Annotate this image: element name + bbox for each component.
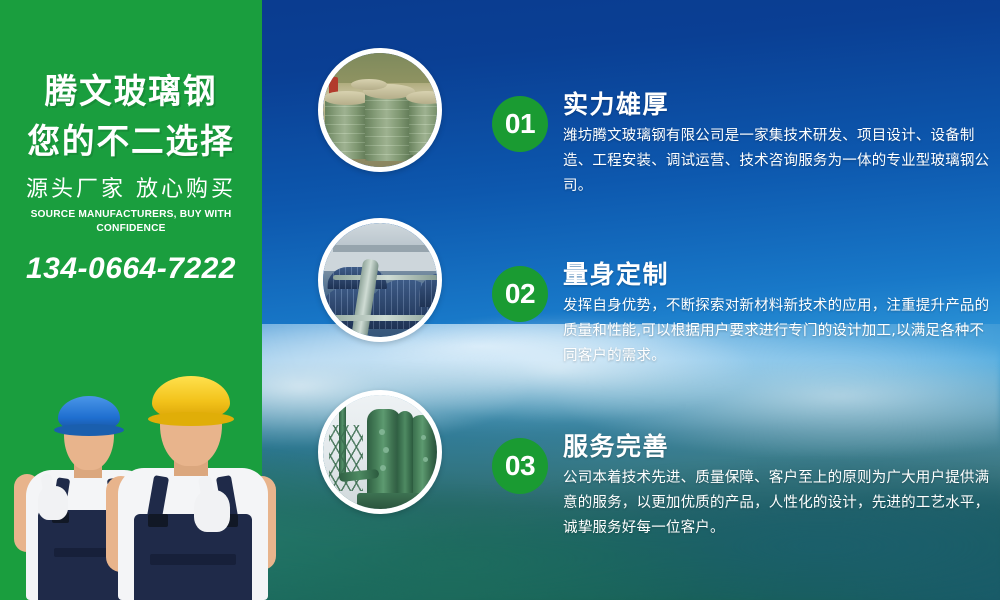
feature-text-3: 服务完善 公司本着技术先进、质量保障、客户至上的原则为广大用户提供满意的服务，以… — [563, 432, 993, 541]
brand-slogan-en: SOURCE MANUFACTURERS, BUY WITH CONFIDENC… — [4, 207, 258, 235]
feature-title-3: 服务完善 — [563, 432, 993, 462]
feature-row-2: 02 量身定制 发挥自身优势，不断探索对新材料新技术的应用，注重提升产品的质量和… — [300, 218, 990, 378]
feature-text-2: 量身定制 发挥自身优势，不断探索对新材料新技术的应用，注重提升产品的质量和性能,… — [563, 260, 993, 369]
brand-slogan-cn: 源头厂家 放心购买 — [0, 176, 262, 204]
feature-text-1: 实力雄厚 潍坊腾文玻璃钢有限公司是一家集技术研发、项目设计、设备制造、工程安装、… — [563, 90, 993, 199]
brand-title-line1: 腾文玻璃钢 — [5, 72, 257, 112]
workers-photo — [0, 360, 262, 600]
promo-banner: 腾文玻璃钢 您的不二选择 源头厂家 放心购买 SOURCE MANUFACTUR… — [0, 0, 1000, 600]
feature-title-1: 实力雄厚 — [563, 90, 993, 120]
feature-desc-3: 公司本着技术先进、质量保障、客户至上的原则为广大用户提供满意的服务，以更加优质的… — [563, 466, 993, 541]
feature-thumbnail-3 — [318, 390, 442, 514]
feature-badge-1: 01 — [492, 96, 548, 152]
feature-thumbnail-2 — [318, 218, 442, 342]
worker-front — [108, 364, 276, 600]
feature-title-2: 量身定制 — [563, 260, 993, 290]
feature-badge-3: 03 — [492, 438, 548, 494]
brand-title-line2: 您的不二选择 — [5, 122, 257, 162]
feature-row-1: 01 实力雄厚 潍坊腾文玻璃钢有限公司是一家集技术研发、项目设计、设备制造、工程… — [300, 48, 990, 208]
feature-row-3: 03 服务完善 公司本着技术先进、质量保障、客户至上的原则为广大用户提供满意的服… — [300, 390, 990, 550]
brand-block: 腾文玻璃钢 您的不二选择 源头厂家 放心购买 SOURCE MANUFACTUR… — [0, 0, 262, 287]
feature-badge-2: 02 — [492, 266, 548, 322]
feature-desc-2: 发挥自身优势，不断探索对新材料新技术的应用，注重提升产品的质量和性能,可以根据用… — [563, 294, 993, 369]
brand-phone-number[interactable]: 134-0664-7222 — [0, 251, 262, 287]
feature-thumbnail-1 — [318, 48, 442, 172]
feature-desc-1: 潍坊腾文玻璃钢有限公司是一家集技术研发、项目设计、设备制造、工程安装、调试运营、… — [563, 124, 993, 199]
brand-panel: 腾文玻璃钢 您的不二选择 源头厂家 放心购买 SOURCE MANUFACTUR… — [0, 0, 262, 600]
